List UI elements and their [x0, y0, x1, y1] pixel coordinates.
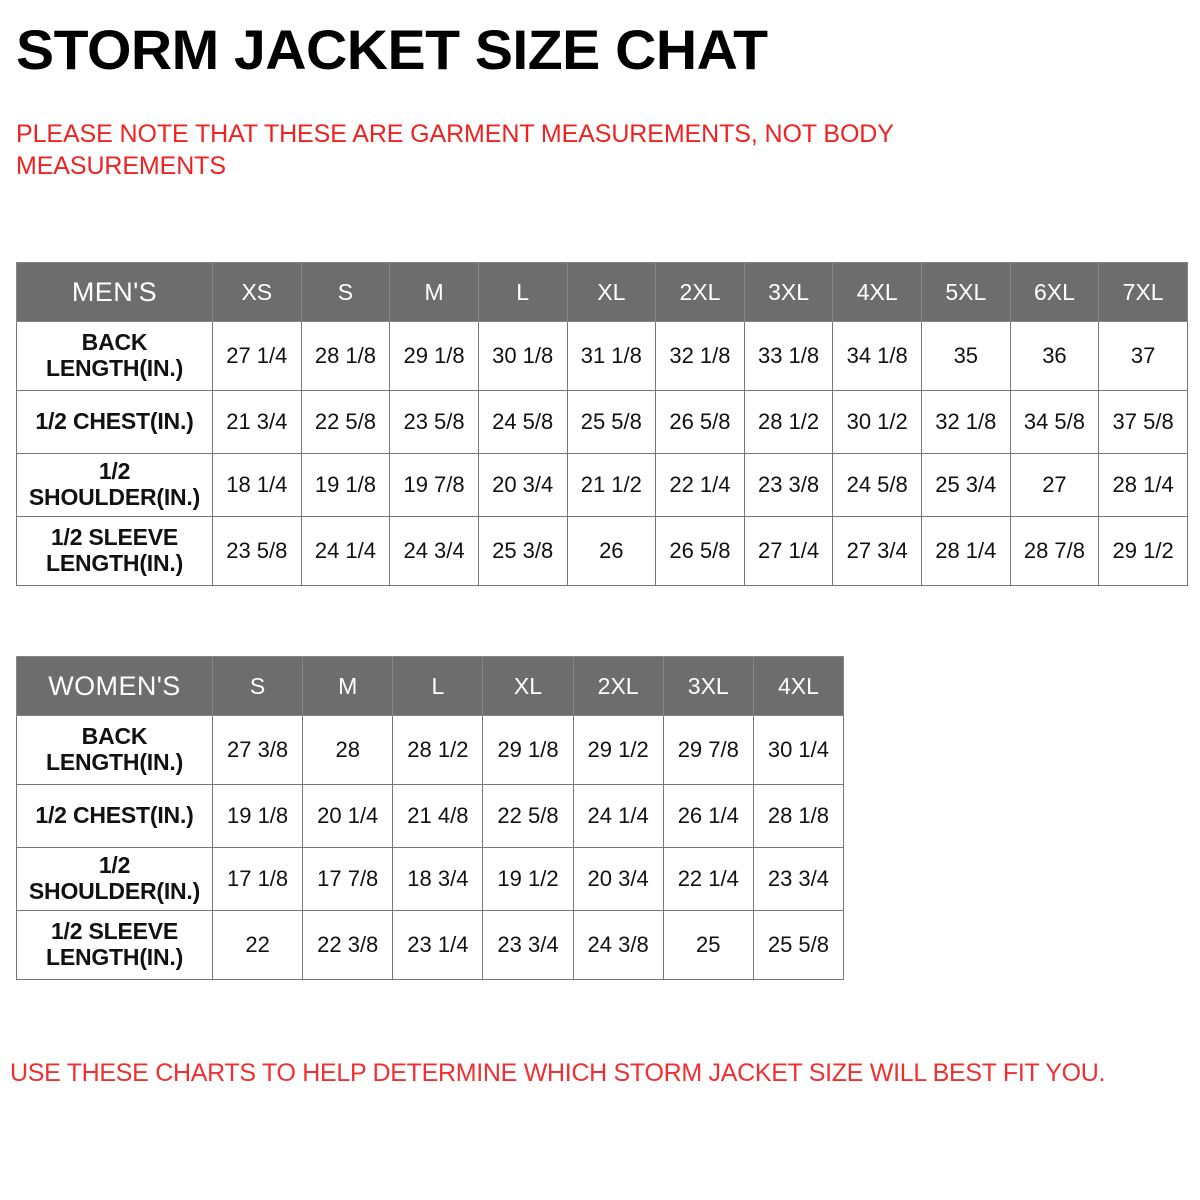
- mens-column-header-xl: XL: [567, 263, 656, 322]
- measurement-cell: 26 5/8: [656, 517, 745, 586]
- measurement-cell: 26 5/8: [656, 391, 745, 454]
- measurement-cell: 25 5/8: [753, 911, 843, 980]
- measurement-cell: 28 1/8: [753, 785, 843, 848]
- measurement-cell: 21 4/8: [393, 785, 483, 848]
- measurement-cell: 37 5/8: [1099, 391, 1188, 454]
- table-row: 1/2 CHEST(IN.)21 3/422 5/823 5/824 5/825…: [17, 391, 1188, 454]
- mens-column-header-2xl: 2XL: [656, 263, 745, 322]
- measurement-cell: 23 5/8: [390, 391, 479, 454]
- note-use-these-charts: USE THESE CHARTS TO HELP DETERMINE WHICH…: [10, 1058, 1190, 1089]
- womens-column-header-l: L: [393, 657, 483, 716]
- measurement-cell: 23 3/4: [753, 848, 843, 911]
- measurement-cell: 17 1/8: [213, 848, 303, 911]
- womens-column-header-xl: XL: [483, 657, 573, 716]
- measurement-cell: 18 1/4: [213, 454, 302, 517]
- mens-column-header-7xl: 7XL: [1099, 263, 1188, 322]
- table-row: 1/2 SHOULDER(IN.)17 1/817 7/818 3/419 1/…: [17, 848, 844, 911]
- measurement-cell: 25 5/8: [567, 391, 656, 454]
- measurement-cell: 19 7/8: [390, 454, 479, 517]
- measurement-cell: 34 5/8: [1010, 391, 1099, 454]
- measurement-cell: 22 1/4: [656, 454, 745, 517]
- measurement-cell: 23 1/4: [393, 911, 483, 980]
- measurement-cell: 20 3/4: [478, 454, 567, 517]
- womens-size-table: WOMEN'SSMLXL2XL3XL4XL BACKLENGTH(IN.)27 …: [16, 656, 844, 980]
- measurement-cell: 22 5/8: [301, 391, 390, 454]
- measurement-cell: 20 1/4: [303, 785, 393, 848]
- measurement-cell: 26: [567, 517, 656, 586]
- measurement-cell: 23 3/4: [483, 911, 573, 980]
- mens-column-header-m: M: [390, 263, 479, 322]
- measurement-cell: 17 7/8: [303, 848, 393, 911]
- measurement-cell: 19 1/8: [213, 785, 303, 848]
- mens-size-table: MEN'SXSSMLXL2XL3XL4XL5XL6XL7XL BACKLENGT…: [16, 262, 1188, 586]
- mens-column-header-5xl: 5XL: [922, 263, 1011, 322]
- womens-row-header: 1/2 SLEEVELENGTH(IN.): [17, 911, 213, 980]
- measurement-cell: 24 1/4: [573, 785, 663, 848]
- mens-column-header-6xl: 6XL: [1010, 263, 1099, 322]
- measurement-cell: 30 1/8: [478, 322, 567, 391]
- mens-column-header-3xl: 3XL: [744, 263, 833, 322]
- mens-corner-header: MEN'S: [17, 263, 213, 322]
- measurement-cell: 29 1/8: [390, 322, 479, 391]
- measurement-cell: 24 3/8: [573, 911, 663, 980]
- womens-row-header: BACKLENGTH(IN.): [17, 716, 213, 785]
- measurement-cell: 22 3/8: [303, 911, 393, 980]
- table-row: 1/2 SLEEVELENGTH(IN.)2222 3/823 1/423 3/…: [17, 911, 844, 980]
- measurement-cell: 30 1/2: [833, 391, 922, 454]
- measurement-cell: 28 1/2: [744, 391, 833, 454]
- measurement-cell: 33 1/8: [744, 322, 833, 391]
- womens-corner-header: WOMEN'S: [17, 657, 213, 716]
- measurement-cell: 23 5/8: [213, 517, 302, 586]
- mens-column-header-4xl: 4XL: [833, 263, 922, 322]
- table-row: 1/2 SLEEVELENGTH(IN.)23 5/824 1/424 3/42…: [17, 517, 1188, 586]
- measurement-cell: 28 7/8: [1010, 517, 1099, 586]
- womens-column-header-s: S: [213, 657, 303, 716]
- table-row: 1/2 SHOULDER(IN.)18 1/419 1/819 7/820 3/…: [17, 454, 1188, 517]
- womens-column-header-4xl: 4XL: [753, 657, 843, 716]
- measurement-cell: 27 1/4: [213, 322, 302, 391]
- womens-column-header-2xl: 2XL: [573, 657, 663, 716]
- table-row: BACKLENGTH(IN.)27 3/82828 1/229 1/829 1/…: [17, 716, 844, 785]
- mens-column-header-l: L: [478, 263, 567, 322]
- measurement-cell: 27: [1010, 454, 1099, 517]
- mens-table-body: BACKLENGTH(IN.)27 1/428 1/829 1/830 1/83…: [17, 322, 1188, 586]
- note-garment-measurements: PLEASE NOTE THAT THESE ARE GARMENT MEASU…: [16, 118, 976, 182]
- measurement-cell: 32 1/8: [656, 322, 745, 391]
- measurement-cell: 27 3/4: [833, 517, 922, 586]
- measurement-cell: 28 1/8: [301, 322, 390, 391]
- size-chart-page: STORM JACKET SIZE CHAT PLEASE NOTE THAT …: [0, 0, 1200, 1200]
- womens-table-head: WOMEN'SSMLXL2XL3XL4XL: [17, 657, 844, 716]
- mens-column-header-s: S: [301, 263, 390, 322]
- measurement-cell: 21 3/4: [213, 391, 302, 454]
- measurement-cell: 19 1/2: [483, 848, 573, 911]
- womens-header-row: WOMEN'SSMLXL2XL3XL4XL: [17, 657, 844, 716]
- measurement-cell: 24 5/8: [478, 391, 567, 454]
- womens-row-header: 1/2 SHOULDER(IN.): [17, 848, 213, 911]
- measurement-cell: 19 1/8: [301, 454, 390, 517]
- measurement-cell: 26 1/4: [663, 785, 753, 848]
- measurement-cell: 28 1/2: [393, 716, 483, 785]
- measurement-cell: 25: [663, 911, 753, 980]
- mens-table-head: MEN'SXSSMLXL2XL3XL4XL5XL6XL7XL: [17, 263, 1188, 322]
- mens-column-header-xs: XS: [213, 263, 302, 322]
- measurement-cell: 22 5/8: [483, 785, 573, 848]
- measurement-cell: 37: [1099, 322, 1188, 391]
- measurement-cell: 27 1/4: [744, 517, 833, 586]
- mens-row-header: 1/2 CHEST(IN.): [17, 391, 213, 454]
- womens-table-body: BACKLENGTH(IN.)27 3/82828 1/229 1/829 1/…: [17, 716, 844, 980]
- page-title: STORM JACKET SIZE CHAT: [16, 22, 767, 78]
- table-row: BACKLENGTH(IN.)27 1/428 1/829 1/830 1/83…: [17, 322, 1188, 391]
- mens-header-row: MEN'SXSSMLXL2XL3XL4XL5XL6XL7XL: [17, 263, 1188, 322]
- measurement-cell: 31 1/8: [567, 322, 656, 391]
- measurement-cell: 28 1/4: [922, 517, 1011, 586]
- measurement-cell: 21 1/2: [567, 454, 656, 517]
- mens-row-header: 1/2 SLEEVELENGTH(IN.): [17, 517, 213, 586]
- measurement-cell: 25 3/8: [478, 517, 567, 586]
- measurement-cell: 28: [303, 716, 393, 785]
- womens-column-header-m: M: [303, 657, 393, 716]
- measurement-cell: 32 1/8: [922, 391, 1011, 454]
- measurement-cell: 29 1/2: [573, 716, 663, 785]
- measurement-cell: 35: [922, 322, 1011, 391]
- mens-row-header: BACKLENGTH(IN.): [17, 322, 213, 391]
- measurement-cell: 18 3/4: [393, 848, 483, 911]
- measurement-cell: 29 1/2: [1099, 517, 1188, 586]
- measurement-cell: 27 3/8: [213, 716, 303, 785]
- measurement-cell: 36: [1010, 322, 1099, 391]
- measurement-cell: 24 1/4: [301, 517, 390, 586]
- measurement-cell: 24 3/4: [390, 517, 479, 586]
- measurement-cell: 22: [213, 911, 303, 980]
- measurement-cell: 29 7/8: [663, 716, 753, 785]
- measurement-cell: 24 5/8: [833, 454, 922, 517]
- measurement-cell: 30 1/4: [753, 716, 843, 785]
- measurement-cell: 25 3/4: [922, 454, 1011, 517]
- measurement-cell: 28 1/4: [1099, 454, 1188, 517]
- table-row: 1/2 CHEST(IN.)19 1/820 1/421 4/822 5/824…: [17, 785, 844, 848]
- womens-column-header-3xl: 3XL: [663, 657, 753, 716]
- measurement-cell: 34 1/8: [833, 322, 922, 391]
- mens-row-header: 1/2 SHOULDER(IN.): [17, 454, 213, 517]
- womens-row-header: 1/2 CHEST(IN.): [17, 785, 213, 848]
- measurement-cell: 20 3/4: [573, 848, 663, 911]
- measurement-cell: 23 3/8: [744, 454, 833, 517]
- measurement-cell: 29 1/8: [483, 716, 573, 785]
- measurement-cell: 22 1/4: [663, 848, 753, 911]
